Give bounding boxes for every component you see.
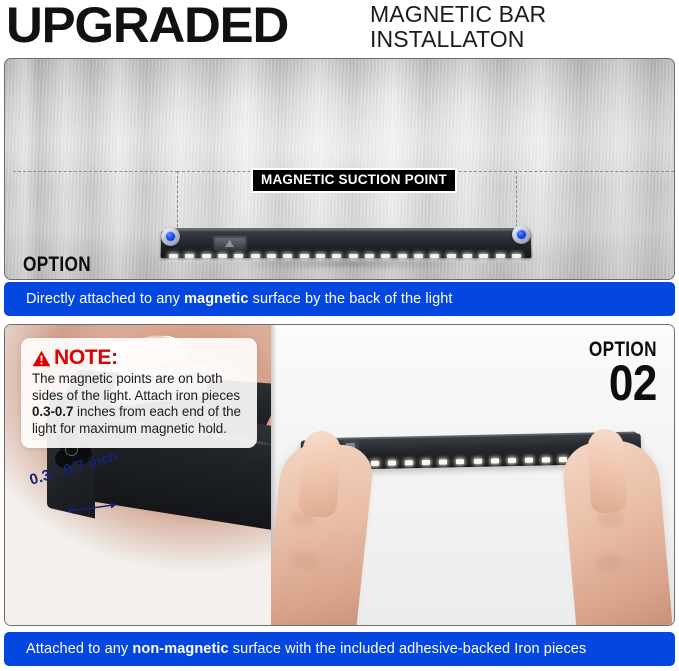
note-body-text: The magnetic points are on both sides of… [32,371,247,437]
led-dot [414,254,423,258]
option-1-number: 01 [23,276,96,280]
led-dot [508,458,516,463]
led-dot [473,459,481,464]
option-2-number: 02 [584,361,657,405]
led-dot [496,254,505,258]
option-2-caption-text: Attached to any non-magnetic surface wit… [4,641,586,657]
note-body-part-1: The magnetic points are on both sides of… [32,371,240,403]
magnet-core-icon [166,232,175,241]
led-dot [185,254,194,258]
led-dot [234,254,243,258]
led-dot [405,460,413,465]
led-dot [381,254,390,258]
led-dot [479,254,488,258]
subtitle-line-2: INSTALLATON [370,26,524,52]
led-dot [542,457,550,462]
magnet-core-icon [517,230,526,239]
led-light-bar-mounted [157,225,535,271]
knuckle [594,552,625,573]
led-strip [169,252,521,259]
option-2-badge: OPTION 02 [574,340,657,405]
note-body-bold: 0.3-0.7 [32,404,73,419]
caption-bold: magnetic [184,291,248,307]
right-thumb [587,428,627,514]
led-dot [349,254,358,258]
led-dot [388,461,396,466]
led-dot [251,254,260,258]
option-1-image-panel: MAGNETIC SUCTION POINT OPTION [4,58,675,280]
warning-triangle-icon [32,350,51,367]
led-dot [463,254,472,258]
led-dot [300,254,309,258]
caption-after: surface by the back of the light [249,291,453,307]
option-1-badge: OPTION 01 [23,255,106,280]
option-1-caption-banner: Directly attached to any magnetic surfac… [4,282,675,316]
led-dot [525,458,533,463]
led-dot [283,254,292,258]
page-title: UPGRADED [6,0,288,53]
led-dot [398,254,407,258]
led-dot [202,254,211,258]
caption-before: Directly attached to any [26,291,184,307]
led-dot [316,254,325,258]
led-dot [267,254,276,258]
led-dot [491,458,499,463]
left-thumb [298,430,342,518]
caption-after: surface with the included adhesive-backe… [229,641,587,657]
option-1-caption-text: Directly attached to any magnetic surfac… [4,291,453,307]
led-dot [447,254,456,258]
knuckle [290,550,322,571]
led-dot [439,459,447,464]
option-2-caption-banner: Attached to any non-magnetic surface wit… [4,632,675,666]
led-dot [370,461,378,466]
page-header: UPGRADED MAGNETIC BAR INSTALLATON [0,0,679,56]
caption-bold: non-magnetic [132,641,228,657]
caption-before: Attached to any [26,641,132,657]
led-dot [422,460,430,465]
led-dot [169,254,178,258]
light-bar-top-edge [165,228,527,233]
led-dot [430,254,439,258]
dashed-guide-left [13,171,178,172]
note-callout-card: NOTE: The magnetic points are on both si… [21,338,257,448]
note-heading-text: NOTE: [54,347,118,369]
led-dot [456,459,464,464]
dashed-guide-right [514,171,674,172]
led-dot [332,254,341,258]
page-subtitle: MAGNETIC BAR INSTALLATON [370,2,546,52]
note-heading: NOTE: [32,347,247,369]
led-dot [512,254,521,258]
magnetic-point-right [512,225,531,244]
magnetic-point-left [161,227,180,246]
magnetic-suction-point-label: MAGNETIC SUCTION POINT [251,168,457,193]
subtitle-line-1: MAGNETIC BAR [370,1,546,27]
led-dot [218,254,227,258]
led-dot [365,254,374,258]
